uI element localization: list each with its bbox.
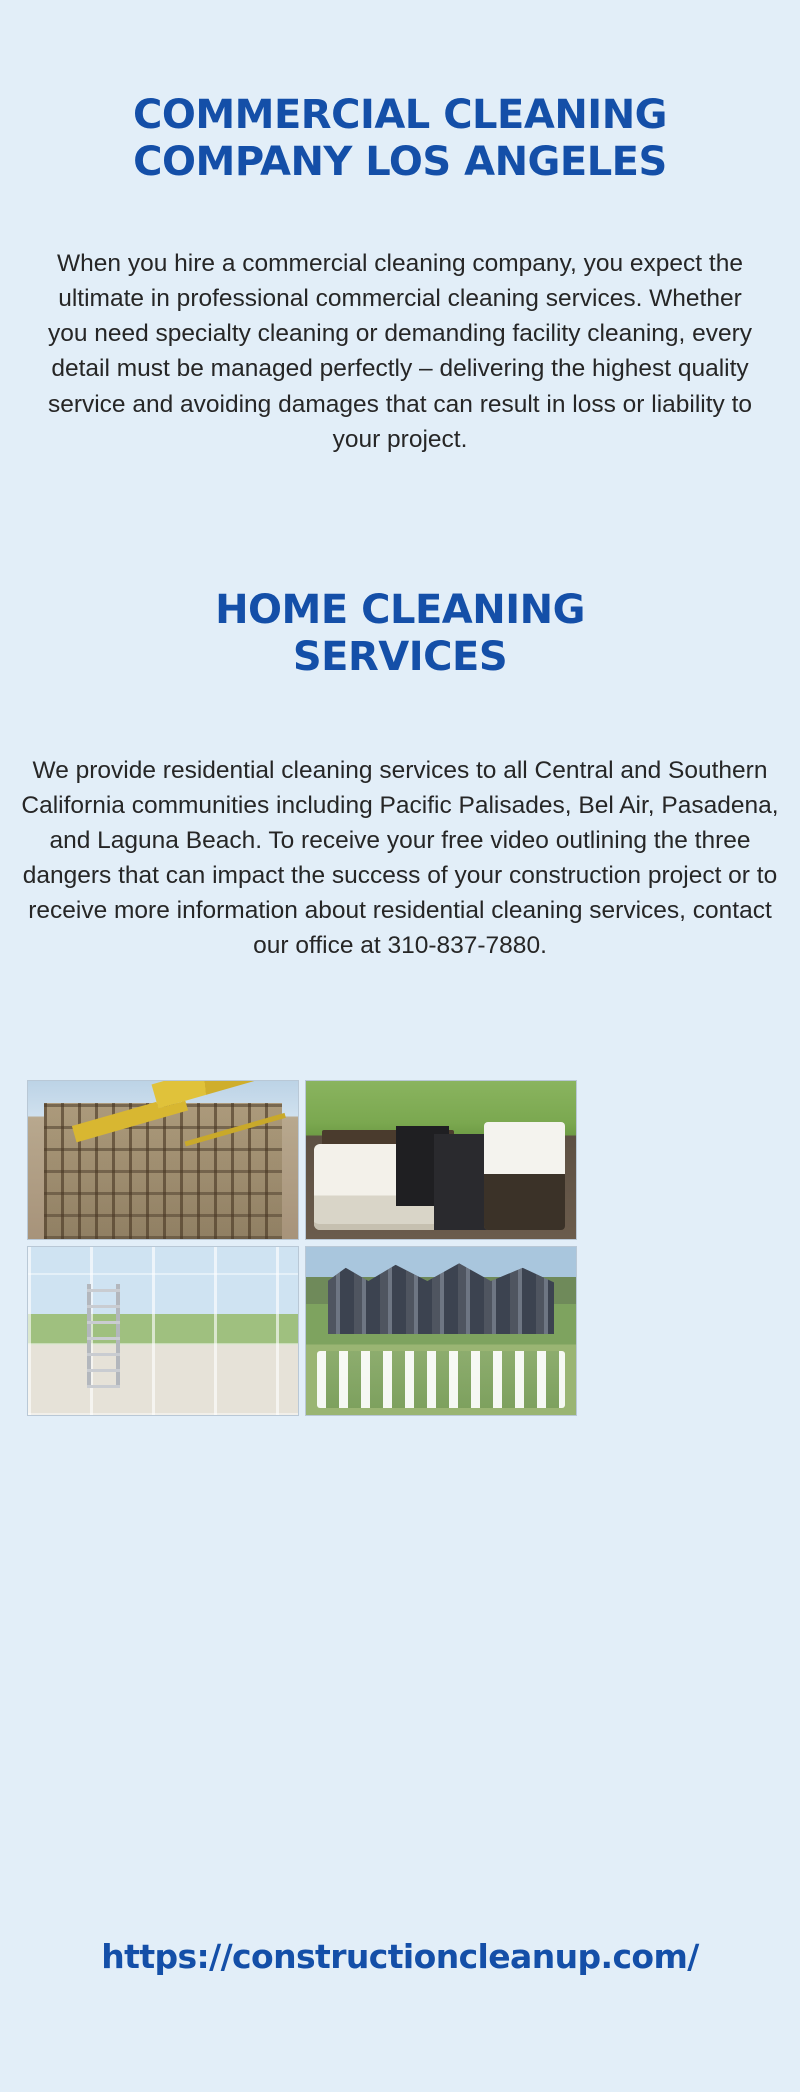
photo-construction-building-scaffolding xyxy=(27,1080,299,1240)
page-title-secondary: HOME CLEANING SERVICES xyxy=(0,587,800,681)
page-title-secondary-line-1: HOME CLEANING xyxy=(60,587,740,634)
page-title-primary: COMMERCIAL CLEANING COMPANY LOS ANGELES xyxy=(0,92,800,186)
page-title-primary-line-2: COMPANY LOS ANGELES xyxy=(60,139,740,186)
photo-collage xyxy=(27,1080,577,1416)
photo-resort-hotel-grounds xyxy=(305,1246,577,1416)
commercial-cleaning-paragraph: When you hire a commercial cleaning comp… xyxy=(0,246,800,456)
infographic-page: COMMERCIAL CLEANING COMPANY LOS ANGELES … xyxy=(0,92,800,2092)
page-title-secondary-line-2: SERVICES xyxy=(60,634,740,681)
page-title-primary-line-1: COMMERCIAL CLEANING xyxy=(60,92,740,139)
home-cleaning-paragraph: We provide residential cleaning services… xyxy=(0,753,800,963)
photo-patio-furniture-cleaning xyxy=(305,1080,577,1240)
website-url-link[interactable]: https://constructioncleanup.com/ xyxy=(0,1937,800,1976)
photo-window-and-floor-cleaning xyxy=(27,1246,299,1416)
